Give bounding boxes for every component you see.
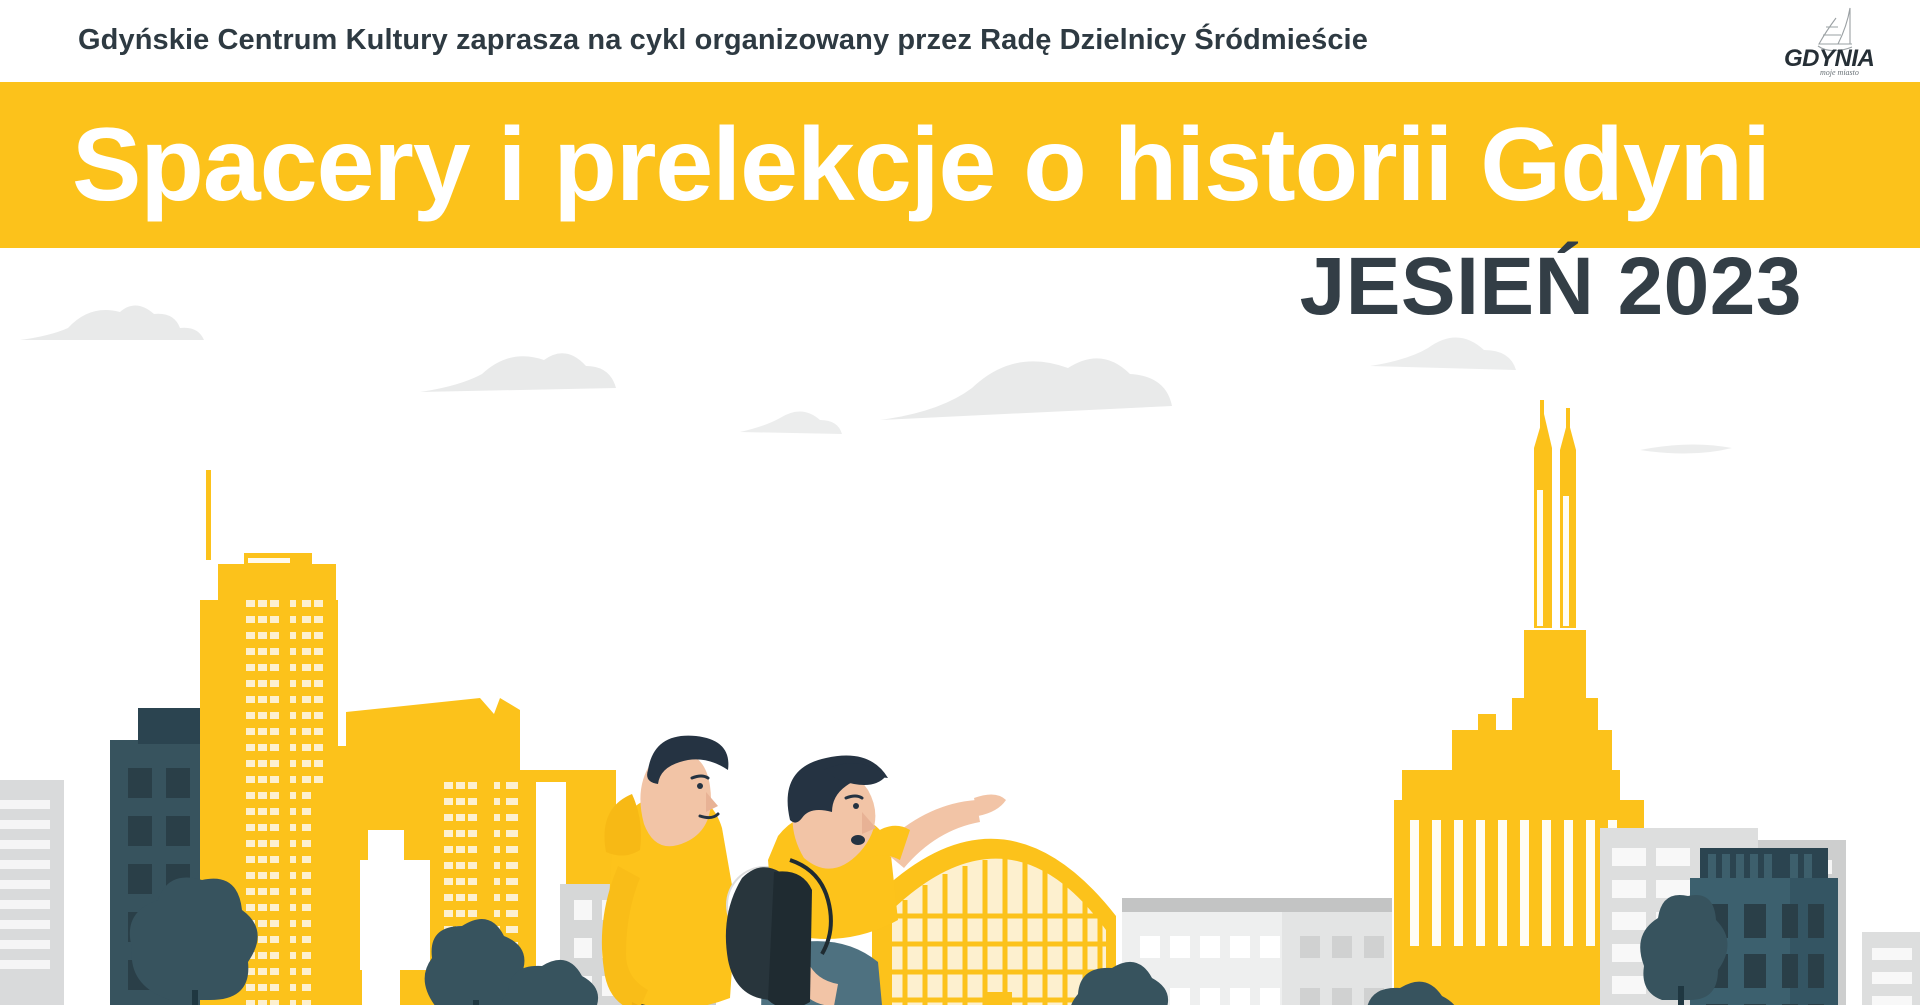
poster-title: Spacery i prelekcje o historii Gdyni [72, 94, 1872, 236]
header-strip: Gdyńskie Centrum Kultury zaprasza na cyk… [0, 0, 1920, 82]
cloud-center [420, 353, 616, 392]
poster-canvas: Gdyńskie Centrum Kultury zaprasza na cyk… [0, 0, 1920, 1005]
cloud-left [20, 305, 204, 340]
gdynia-logo: GDYNIA moje miasto [1778, 2, 1898, 78]
title-banner: Spacery i prelekcje o historii Gdyni [0, 82, 1920, 248]
cloud-center-small [740, 411, 842, 434]
cloud-far-right [1370, 337, 1516, 370]
train-station-hall [872, 839, 1116, 1005]
gdynia-tagline: moje miasto [1820, 68, 1859, 77]
header-kicker-text: Gdyńskie Centrum Kultury zaprasza na cyk… [78, 24, 1368, 57]
city-illustration [0, 300, 1920, 1005]
building-gray-back-left [0, 780, 64, 1005]
cloud-right [880, 358, 1172, 420]
station-clock [986, 992, 1012, 1005]
cloud-right-thin [1640, 444, 1732, 453]
